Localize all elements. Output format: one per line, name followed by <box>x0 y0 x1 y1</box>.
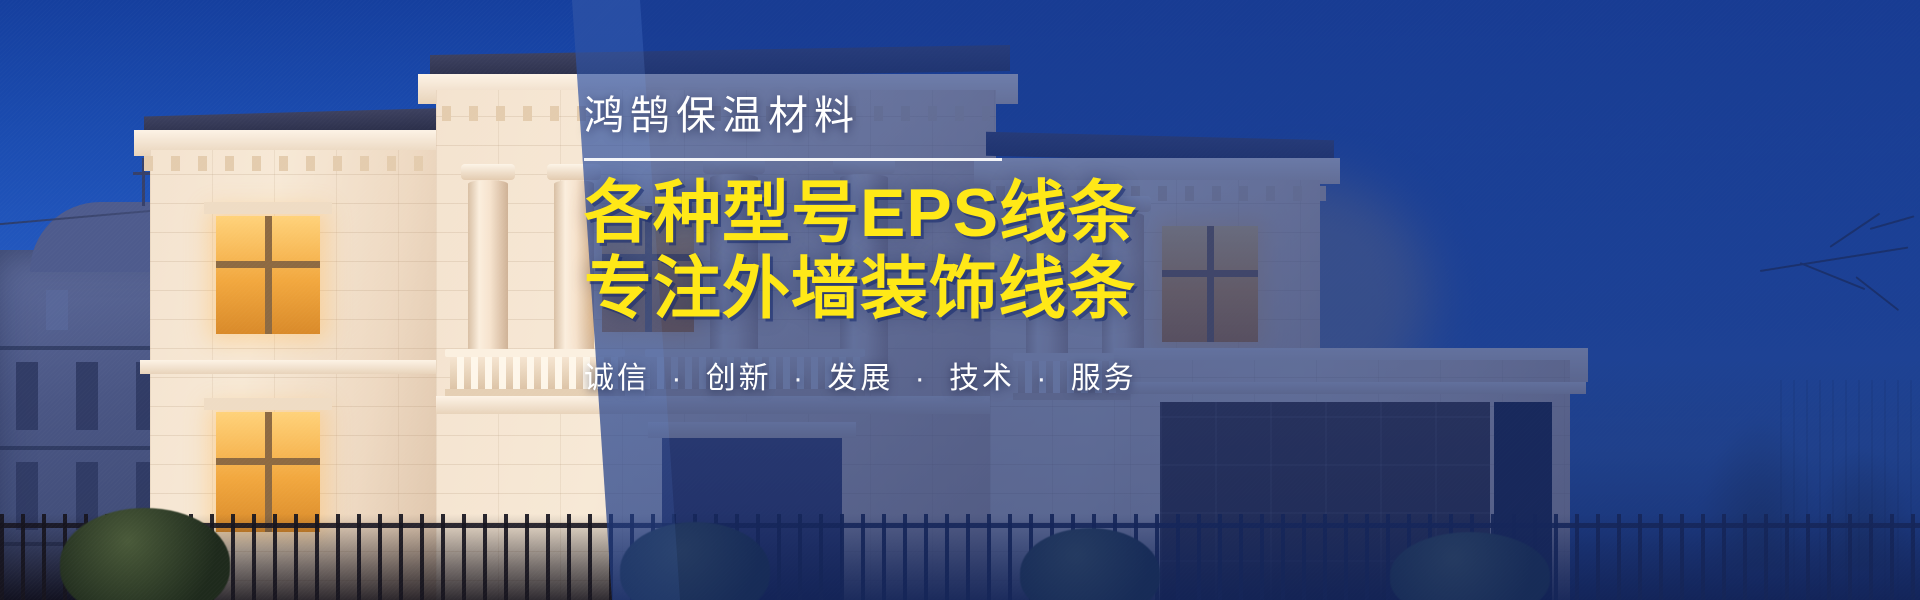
entrance-lintel <box>648 422 856 438</box>
bare-tree-branches <box>1760 210 1920 350</box>
tagline-separator-3: · <box>1036 362 1049 395</box>
hero-banner: 鸿鹄保温材料 各种型号EPS线条 专注外墙装饰线条 诚信 · 创新 · 发展 ·… <box>0 0 1920 600</box>
tagline: 诚信 · 创新 · 发展 · 技术 · 服务 <box>584 353 1584 397</box>
divider-rule <box>584 158 1002 161</box>
tagline-item-2: 发展 <box>827 362 893 395</box>
tagline-item-1: 创新 <box>706 362 772 395</box>
banner-text-block: 鸿鹄保温材料 各种型号EPS线条 专注外墙装饰线条 诚信 · 创新 · 发展 ·… <box>584 96 1584 397</box>
tagline-item-0: 诚信 <box>584 362 650 395</box>
stringcourse-center <box>436 396 998 414</box>
dentil-row-left <box>144 156 464 171</box>
headline-line-1: 各种型号EPS线条 <box>584 175 1584 251</box>
tagline-item-4: 服务 <box>1071 362 1137 395</box>
window-lit-left-upper <box>216 216 320 334</box>
tagline-item-3: 技术 <box>949 362 1015 395</box>
foreground-iron-railing <box>0 514 1920 600</box>
stringcourse-left <box>140 360 464 374</box>
brand-name: 鸿鹄保温材料 <box>584 96 1584 136</box>
tagline-separator-0: · <box>671 362 684 395</box>
headline-line-2: 专注外墙装饰线条 <box>584 251 1584 327</box>
tagline-separator-1: · <box>793 362 806 395</box>
tagline-separator-2: · <box>915 362 928 395</box>
